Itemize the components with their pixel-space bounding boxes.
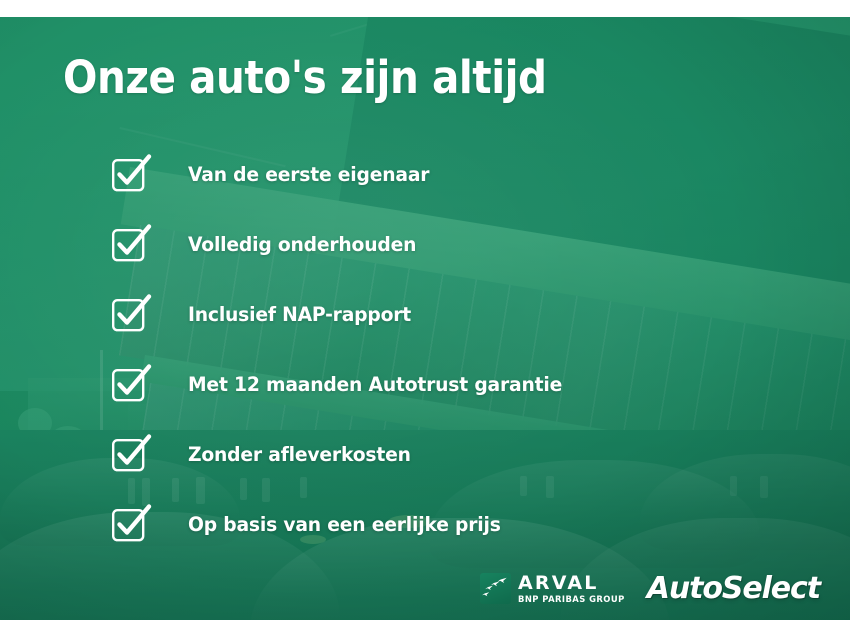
arval-logo: ARVAL BNP PARIBAS GROUP	[480, 573, 625, 604]
list-item: Zonder afleverkosten	[113, 419, 813, 489]
list-item: Met 12 maanden Autotrust garantie	[113, 349, 813, 419]
promo-banner: Onze auto's zijn altijd Van de eerste ei…	[0, 0, 850, 638]
benefits-checklist: Van de eerste eigenaar Volledig onderhou…	[113, 139, 813, 559]
list-item-label: Zonder afleverkosten	[188, 443, 411, 466]
banner-image-plate: Onze auto's zijn altijd Van de eerste ei…	[0, 17, 850, 620]
list-item-label: Op basis van een eerlijke prijs	[188, 513, 501, 536]
list-item: Van de eerste eigenaar	[113, 139, 813, 209]
list-item-label: Inclusief NAP-rapport	[188, 303, 411, 326]
arval-tagline: BNP PARIBAS GROUP	[518, 595, 625, 603]
arval-wordmark: ARVAL BNP PARIBAS GROUP	[518, 574, 625, 603]
checkbox-checked-icon	[113, 439, 144, 470]
checkbox-checked-icon	[113, 229, 144, 260]
autoselect-logo: AutoSelect	[647, 571, 820, 606]
bnp-paribas-stars-icon	[480, 573, 511, 604]
list-item: Inclusief NAP-rapport	[113, 279, 813, 349]
banner-content: Onze auto's zijn altijd Van de eerste ei…	[0, 17, 850, 620]
checkbox-checked-icon	[113, 299, 144, 330]
checkbox-checked-icon	[113, 509, 144, 540]
page-title: Onze auto's zijn altijd	[63, 55, 547, 100]
list-item: Volledig onderhouden	[113, 209, 813, 279]
list-item: Op basis van een eerlijke prijs	[113, 489, 813, 559]
list-item-label: Van de eerste eigenaar	[188, 163, 429, 186]
list-item-label: Met 12 maanden Autotrust garantie	[188, 373, 562, 396]
checkbox-checked-icon	[113, 369, 144, 400]
checkbox-checked-icon	[113, 159, 144, 190]
arval-name: ARVAL	[518, 574, 625, 593]
list-item-label: Volledig onderhouden	[188, 233, 416, 256]
logo-row: ARVAL BNP PARIBAS GROUP AutoSelect	[480, 571, 820, 606]
